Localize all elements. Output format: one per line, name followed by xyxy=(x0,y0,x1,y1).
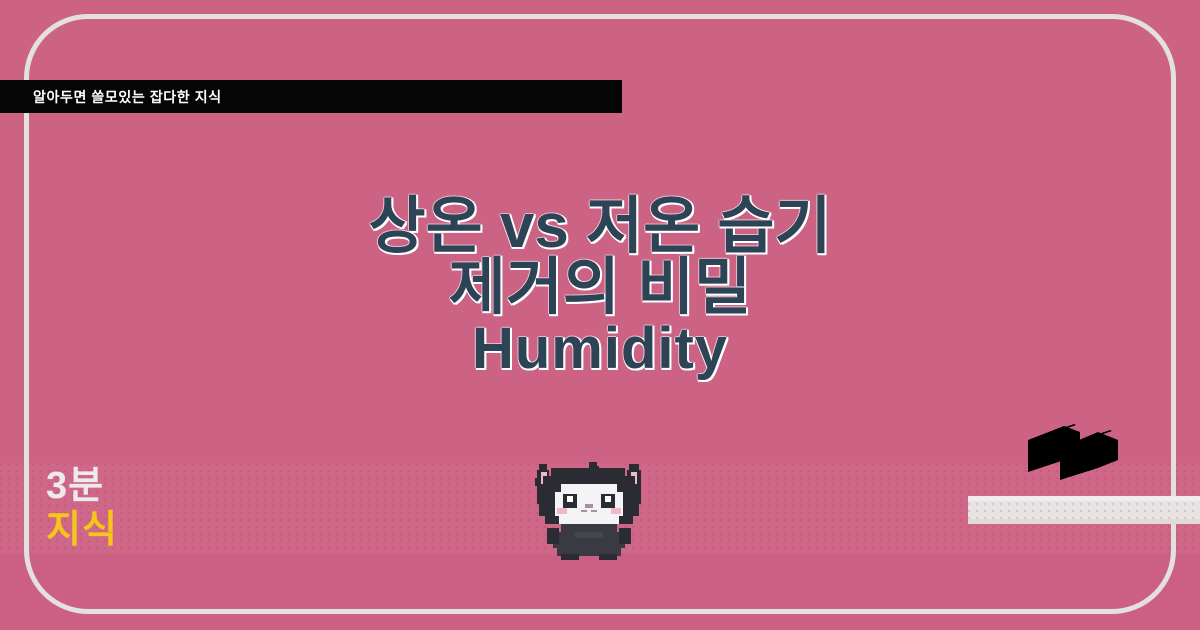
shelf-bottom-edge xyxy=(968,519,1200,524)
texture-band-lower xyxy=(0,553,1200,630)
headline-line-3: Humidity xyxy=(0,318,1200,379)
headline-line-1: 상온 vs 저온 습기 xyxy=(0,196,1200,257)
badge-line-bottom: 지식 xyxy=(46,508,118,552)
brand-badge: 3분 지식 xyxy=(46,464,118,552)
page-title: 상온 vs 저온 습기 제거의 비밀 Humidity xyxy=(0,196,1200,379)
cat-mascot-icon xyxy=(527,452,651,562)
top-banner: 알아두면 쓸모있는 잡다한 지식 xyxy=(0,80,622,113)
stacked-books-icon xyxy=(1018,418,1144,490)
thumbnail-canvas: 알아두면 쓸모있는 잡다한 지식 상온 vs 저온 습기 제거의 비밀 Humi… xyxy=(0,0,1200,630)
badge-line-top: 3분 xyxy=(46,464,118,508)
shelf-top-edge xyxy=(968,496,1200,501)
headline-line-2: 제거의 비밀 xyxy=(0,257,1200,318)
shelf-bar xyxy=(968,496,1200,524)
banner-label: 알아두면 쓸모있는 잡다한 지식 xyxy=(0,87,222,107)
